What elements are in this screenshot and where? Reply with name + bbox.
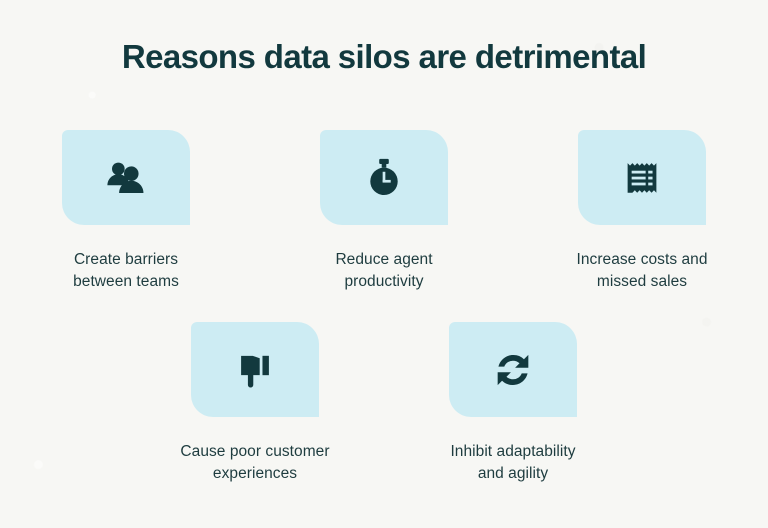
caption-line-1: Create barriers	[74, 251, 178, 268]
card-item-reduce-productivity[interactable]: Reduce agent productivity	[298, 130, 470, 293]
page-title: Reasons data silos are detrimental	[0, 38, 768, 76]
card-caption: Reduce agent productivity	[289, 249, 479, 293]
caption-line-2: experiences	[213, 465, 297, 482]
caption-line-1: Reduce agent	[335, 251, 432, 268]
caption-line-1: Cause poor customer	[180, 443, 329, 460]
caption-line-2: productivity	[345, 273, 424, 290]
receipt-icon	[619, 155, 665, 201]
icon-card[interactable]	[578, 130, 706, 225]
icon-card[interactable]	[320, 130, 448, 225]
caption-line-2: between teams	[73, 273, 179, 290]
caption-line-2: and agility	[478, 465, 548, 482]
card-caption: Create barriers between teams	[31, 249, 221, 293]
caption-line-2: missed sales	[597, 273, 687, 290]
thumbs-down-icon	[232, 347, 278, 393]
card-caption: Cause poor customer experiences	[155, 441, 355, 485]
card-item-increase-costs[interactable]: Increase costs and missed sales	[556, 130, 728, 293]
card-item-poor-experiences[interactable]: Cause poor customer experiences	[169, 322, 341, 485]
infographic-page: Reasons data silos are detrimental Creat…	[0, 0, 768, 528]
caption-line-1: Inhibit adaptability	[450, 443, 575, 460]
card-row-1: Create barriers between teams Reduce age…	[0, 130, 768, 293]
people-icon	[103, 155, 149, 201]
card-row-2: Cause poor customer experiences Inhibit …	[0, 322, 768, 485]
card-item-create-barriers[interactable]: Create barriers between teams	[40, 130, 212, 293]
card-item-inhibit-adaptability[interactable]: Inhibit adaptability and agility	[427, 322, 599, 485]
icon-card[interactable]	[191, 322, 319, 417]
icon-card[interactable]	[62, 130, 190, 225]
card-caption: Increase costs and missed sales	[547, 249, 737, 293]
icon-card[interactable]	[449, 322, 577, 417]
caption-line-1: Increase costs and	[577, 251, 708, 268]
sync-icon	[490, 347, 536, 393]
stopwatch-icon	[361, 155, 407, 201]
card-caption: Inhibit adaptability and agility	[413, 441, 613, 485]
